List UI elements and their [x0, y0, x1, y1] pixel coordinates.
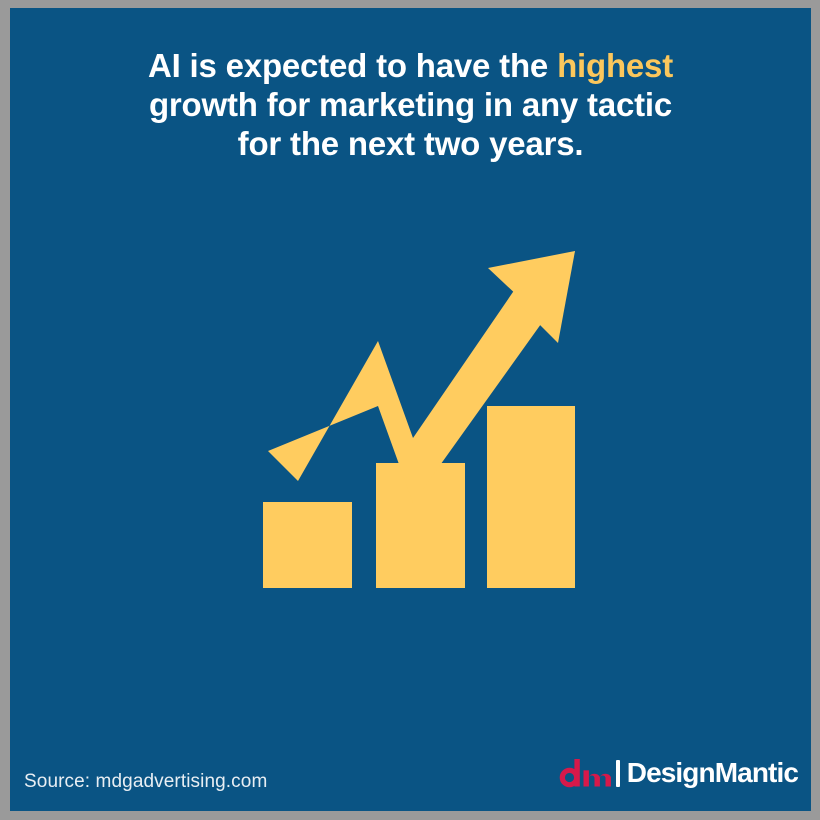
- poster-frame: AI is expected to have the highest growt…: [0, 0, 820, 820]
- brand-name: DesignMantic: [627, 759, 798, 787]
- headline-accent-word: highest: [557, 47, 673, 84]
- page-title: AI is expected to have the highest growt…: [10, 46, 811, 163]
- dm-monogram-icon: [558, 758, 612, 788]
- headline-line-2: growth for marketing in any tactic: [68, 85, 753, 124]
- logo-divider: [616, 760, 620, 787]
- bar-3: [487, 406, 575, 588]
- headline-line-3: for the next two years.: [68, 124, 753, 163]
- headline-line-1: AI is expected to have the highest: [68, 46, 753, 85]
- headline-line-1-text: AI is expected to have the: [148, 47, 557, 84]
- poster-canvas: AI is expected to have the highest growt…: [10, 8, 811, 811]
- brand-logo[interactable]: DesignMantic: [558, 756, 798, 790]
- growth-chart-icon: [250, 233, 595, 603]
- bar-1: [263, 502, 352, 588]
- source-attribution: Source: mdgadvertising.com: [24, 771, 267, 793]
